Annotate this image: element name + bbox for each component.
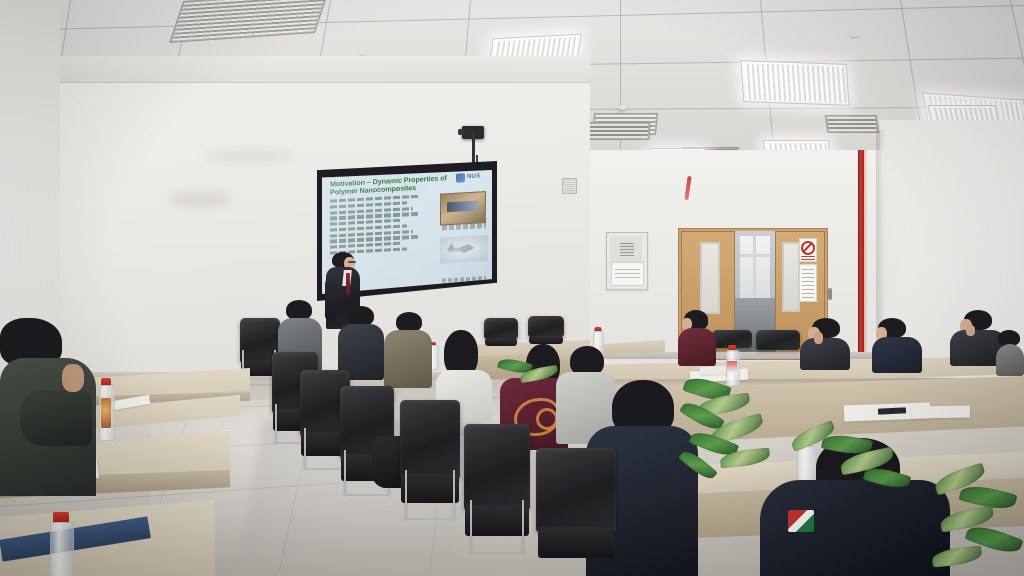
potted-plant xyxy=(676,362,788,482)
wall-mark xyxy=(205,150,295,162)
ceiling-vent xyxy=(588,122,651,140)
chair-back xyxy=(528,316,564,337)
chair-back xyxy=(464,424,530,510)
door-handle[interactable] xyxy=(828,288,832,300)
chair-back xyxy=(400,400,460,479)
torso xyxy=(800,338,850,370)
no-smoking-icon xyxy=(801,241,815,255)
window-mullion xyxy=(740,254,770,257)
chair[interactable] xyxy=(464,424,530,554)
audience-member xyxy=(384,312,432,384)
chair-seat xyxy=(401,474,459,503)
slide-figure-caption xyxy=(442,223,486,230)
wall-speaker-icon xyxy=(562,178,577,194)
ceiling-vent xyxy=(169,0,329,43)
audience-member xyxy=(338,306,384,376)
smoke-detector-icon xyxy=(850,32,859,37)
hand xyxy=(814,332,823,344)
wall-mark xyxy=(170,190,230,208)
fire-standpipe-highlight xyxy=(864,150,868,355)
slide-body-text xyxy=(330,195,420,258)
torso xyxy=(872,337,922,373)
smoke-detector-icon xyxy=(618,105,627,110)
aircraft-wing xyxy=(456,244,474,254)
audience-member xyxy=(996,330,1024,374)
aircraft-icon xyxy=(444,239,484,258)
water-bottle xyxy=(48,512,74,576)
hair xyxy=(396,312,422,332)
notice-board-paper xyxy=(611,262,644,286)
slide-title: Motivation – Dynamic Properties of Polym… xyxy=(330,174,448,197)
audience-member xyxy=(872,318,924,370)
window-mullion xyxy=(753,236,756,298)
hand xyxy=(62,364,84,392)
door-glass-panel xyxy=(782,242,800,312)
aircraft-tail xyxy=(447,243,455,250)
hand xyxy=(966,325,975,336)
presenter-glasses-icon xyxy=(348,261,356,263)
door-glass-panel xyxy=(700,242,720,314)
nus-logo-text: NUS xyxy=(467,173,480,180)
nus-logo: NUS xyxy=(456,171,486,185)
torso xyxy=(384,330,432,388)
chair-seat xyxy=(538,527,615,558)
bottle-body xyxy=(50,522,74,576)
chair-back xyxy=(536,448,616,532)
presenter-arm xyxy=(325,278,336,320)
potted-plant xyxy=(780,422,910,522)
chair-seat xyxy=(465,505,528,536)
hair xyxy=(348,306,374,326)
plant-leaf xyxy=(931,545,983,567)
wall-soffit xyxy=(30,56,590,83)
presenter-tie xyxy=(346,273,350,295)
ceiling-vent xyxy=(825,115,880,133)
audience-member xyxy=(676,310,718,364)
plant-leaf xyxy=(678,447,718,483)
hoodie-graphic xyxy=(536,408,558,430)
audience-member xyxy=(800,318,852,366)
nus-logo-mark xyxy=(456,173,465,182)
no-smoking-sign xyxy=(799,238,817,262)
potted-plant xyxy=(498,356,562,396)
slide-figure-micrograph xyxy=(440,191,486,225)
audience-member xyxy=(0,318,110,498)
chair-back xyxy=(756,330,800,350)
torso xyxy=(678,328,716,366)
chair-seat xyxy=(529,336,564,344)
ceiling-light-panel xyxy=(740,60,849,106)
potted-plant xyxy=(930,462,1024,576)
paper-sheet xyxy=(912,405,970,418)
seminar-room-photo: Motivation – Dynamic Properties of Polym… xyxy=(0,0,1024,576)
torso xyxy=(996,344,1024,376)
hair xyxy=(286,300,312,320)
no-smoking-sign-text xyxy=(801,254,815,260)
chair[interactable] xyxy=(536,448,616,576)
arm xyxy=(20,390,92,446)
empty-chair[interactable] xyxy=(756,330,800,360)
door-notice-sheet xyxy=(799,264,817,302)
chair[interactable] xyxy=(400,400,460,520)
plant-leaf xyxy=(863,464,912,492)
